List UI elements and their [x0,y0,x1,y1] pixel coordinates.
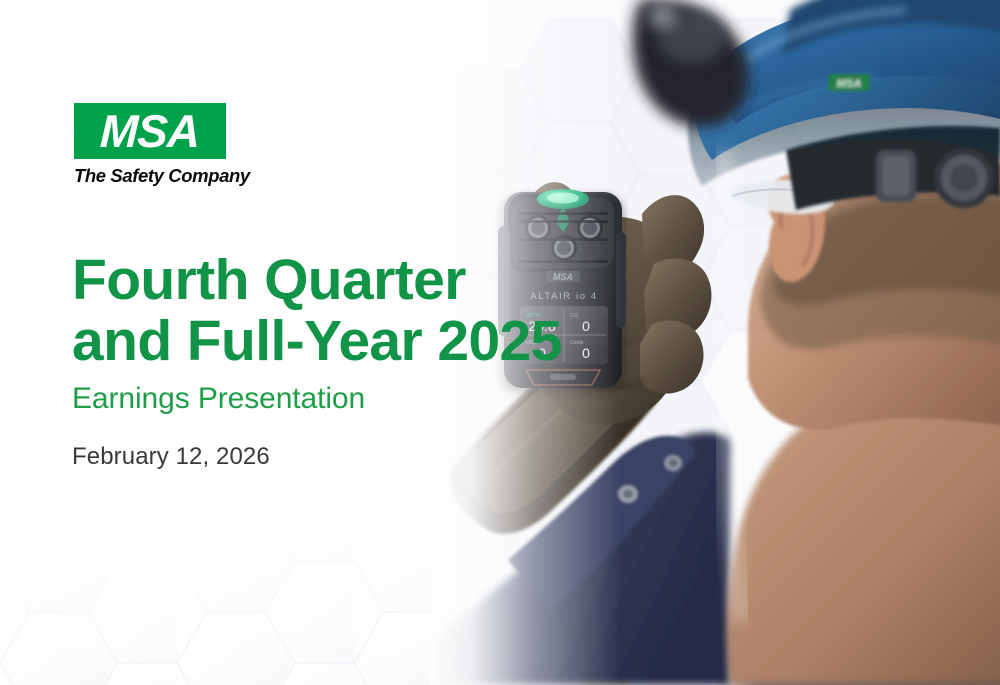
msa-logo-tagline: The Safety Company [74,166,250,186]
msa-logo-mark: MSA [74,103,226,159]
msa-logo: MSA The Safety Company [74,103,250,186]
msa-logo-letters: MSA [100,108,201,154]
presentation-date: February 12, 2026 [72,443,562,471]
title-block: Fourth Quarter and Full-Year 2025 Earnin… [72,250,562,471]
page-subtitle: Earnings Presentation [72,382,562,416]
title-slide: MSA ALTAIR io 4 O2 % 20.8 CO 0 H2S 0 Com… [0,0,1000,685]
page-title-line-2: and Full-Year 2025 [72,311,562,372]
page-title-line-1: Fourth Quarter [72,250,562,311]
